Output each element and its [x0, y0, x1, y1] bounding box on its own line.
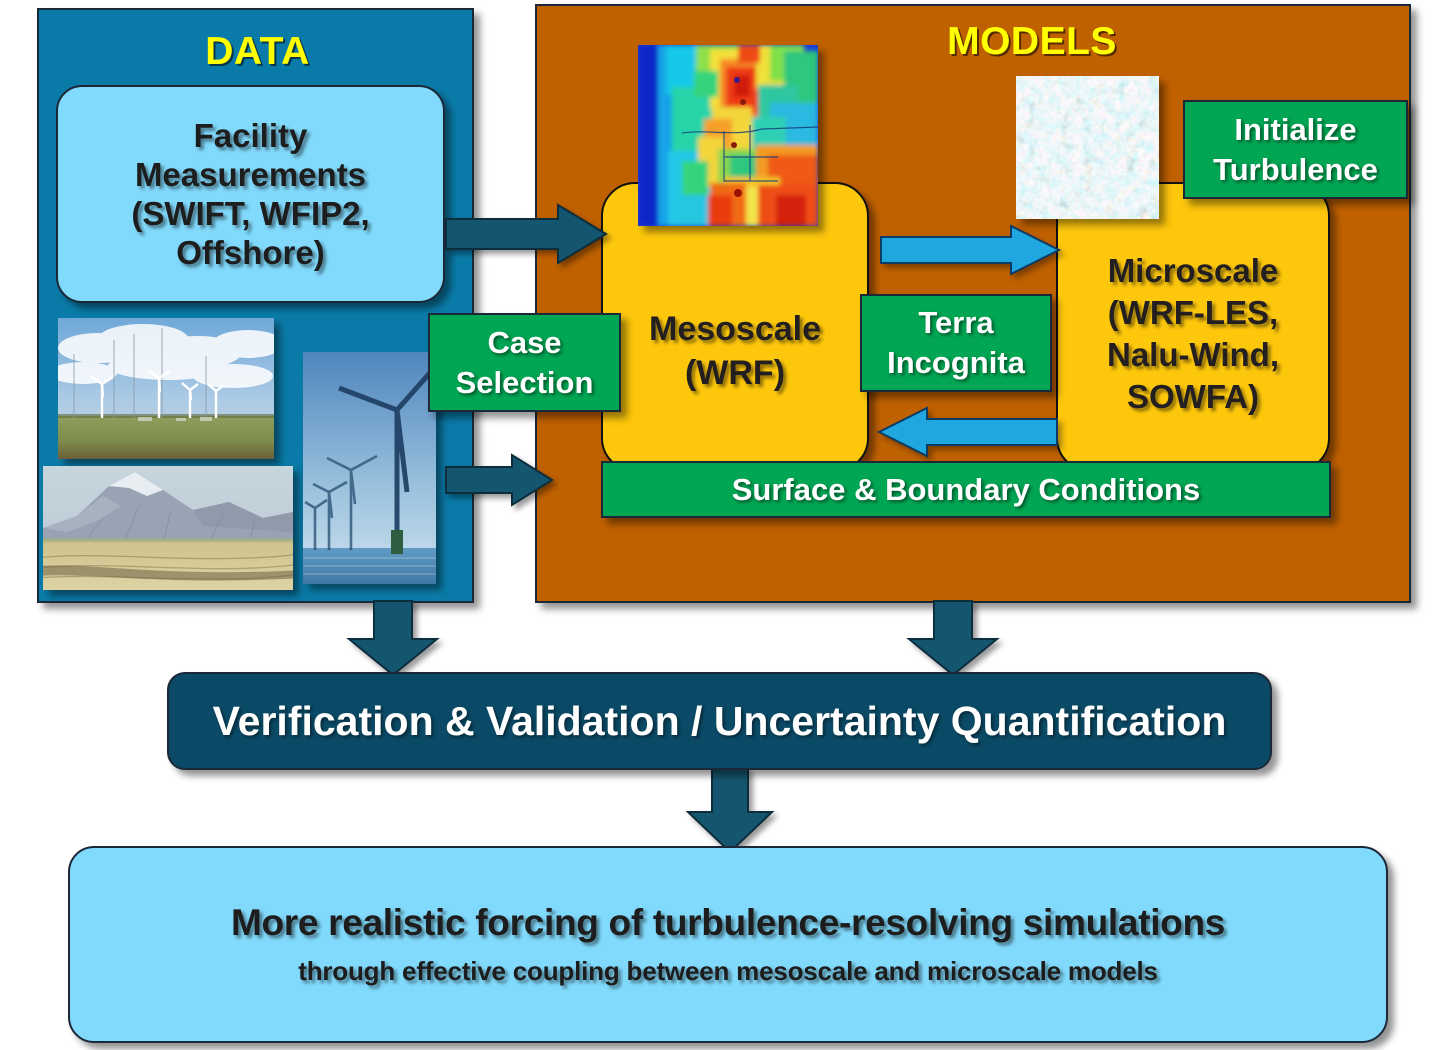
- microscale-box: Microscale (WRF-LES, Nalu-Wind, SOWFA): [1056, 182, 1330, 472]
- microscale-line-1: Microscale: [1107, 250, 1279, 292]
- initialize-turbulence-label: Initialize Turbulence: [1183, 100, 1408, 199]
- case-selection-line-2: Selection: [456, 363, 594, 403]
- outcome-line-2: through effective coupling between mesos…: [231, 956, 1225, 987]
- case-selection-line-1: Case: [456, 323, 594, 363]
- data-panel-title: DATA: [39, 28, 476, 76]
- terra-incognita-label: Terra Incognita: [860, 294, 1052, 392]
- offshore-wind-photo: [303, 352, 436, 584]
- arrow-models-to-vv: [905, 601, 1001, 677]
- verification-validation-text: Verification & Validation / Uncertainty …: [213, 698, 1227, 745]
- outcome-line-1: More realistic forcing of turbulence-res…: [231, 902, 1225, 944]
- outcome-box: More realistic forcing of turbulence-res…: [68, 846, 1388, 1043]
- microscale-line-4: SOWFA): [1107, 376, 1279, 418]
- facility-line-1: Facility: [131, 116, 369, 155]
- microscale-line-3: Nalu-Wind,: [1107, 334, 1279, 376]
- arrow-vv-to-outcome: [682, 768, 778, 854]
- case-selection-label: Case Selection: [428, 313, 621, 412]
- surface-boundary-conditions-text: Surface & Boundary Conditions: [732, 472, 1200, 508]
- mesoscale-line-2: (WRF): [649, 351, 821, 395]
- microscale-line-2: (WRF-LES,: [1107, 292, 1279, 334]
- microscale-turbulence-field: [1016, 76, 1159, 219]
- diagram-canvas: DATA Facility Measurements (SWIFT, WFIP2…: [0, 0, 1433, 1050]
- terra-incognita-line-1: Terra: [887, 303, 1025, 343]
- facility-line-3: (SWIFT, WFIP2,: [131, 194, 369, 233]
- mesoscale-terrain-map: [638, 45, 818, 226]
- wfip2-terrain-photo: [43, 466, 293, 590]
- initialize-turbulence-line-2: Turbulence: [1213, 150, 1378, 190]
- surface-boundary-conditions-bar: Surface & Boundary Conditions: [601, 461, 1331, 518]
- verification-validation-bar: Verification & Validation / Uncertainty …: [167, 672, 1272, 770]
- facility-line-4: Offshore): [131, 233, 369, 272]
- models-panel-title: MODELS: [867, 18, 1197, 66]
- swift-wind-farm-photo: [58, 318, 274, 459]
- facility-line-2: Measurements: [131, 155, 369, 194]
- initialize-turbulence-line-1: Initialize: [1213, 110, 1378, 150]
- arrow-data-to-vv: [345, 601, 441, 677]
- facility-measurements-box: Facility Measurements (SWIFT, WFIP2, Off…: [56, 85, 445, 303]
- terra-incognita-line-2: Incognita: [887, 343, 1025, 383]
- mesoscale-line-1: Mesoscale: [649, 307, 821, 351]
